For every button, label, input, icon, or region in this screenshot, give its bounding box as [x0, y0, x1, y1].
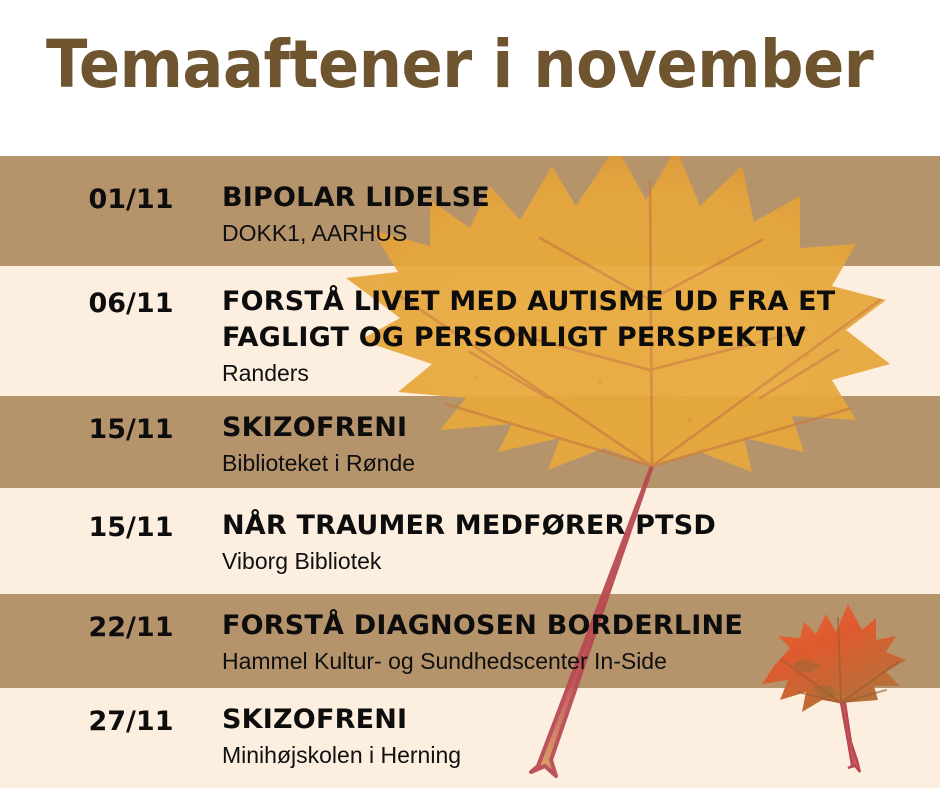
event-date: 27/11: [56, 706, 206, 737]
title-area: Temaaftener i november: [0, 0, 940, 156]
event-row: 01/11 BIPOLAR LIDELSE DOKK1, AARHUS: [0, 156, 940, 266]
event-date: 15/11: [56, 414, 206, 445]
event-title: FORSTÅ DIAGNOSEN BORDERLINE: [222, 608, 922, 644]
event-title: NÅR TRAUMER MEDFØRER PTSD: [222, 508, 922, 544]
event-venue: Randers: [222, 358, 922, 388]
event-venue: Biblioteket i Rønde: [222, 448, 922, 478]
event-title: BIPOLAR LIDELSE: [222, 180, 922, 216]
event-title: SKIZOFRENI: [222, 410, 922, 446]
event-venue: Viborg Bibliotek: [222, 546, 922, 576]
event-body: BIPOLAR LIDELSE DOKK1, AARHUS: [222, 180, 922, 248]
event-body: NÅR TRAUMER MEDFØRER PTSD Viborg Bibliot…: [222, 508, 922, 576]
poster-canvas: Temaaftener i november 01/11 BIPOLAR LID…: [0, 0, 940, 788]
event-date: 22/11: [56, 612, 206, 643]
event-title: SKIZOFRENI: [222, 702, 922, 738]
event-row: 15/11 SKIZOFRENI Biblioteket i Rønde: [0, 396, 940, 488]
event-body: FORSTÅ DIAGNOSEN BORDERLINE Hammel Kultu…: [222, 608, 922, 676]
event-row: 06/11 FORSTÅ LIVET MED AUTISME UD FRA ET…: [0, 266, 940, 396]
event-body: SKIZOFRENI Minihøjskolen i Herning: [222, 702, 922, 770]
event-row: 22/11 FORSTÅ DIAGNOSEN BORDERLINE Hammel…: [0, 594, 940, 688]
event-venue: DOKK1, AARHUS: [222, 218, 922, 248]
event-date: 15/11: [56, 512, 206, 543]
event-title: FORSTÅ LIVET MED AUTISME UD FRA ET FAGLI…: [222, 284, 922, 356]
event-body: SKIZOFRENI Biblioteket i Rønde: [222, 410, 922, 478]
event-date: 01/11: [56, 184, 206, 215]
event-body: FORSTÅ LIVET MED AUTISME UD FRA ET FAGLI…: [222, 284, 922, 388]
page-title: Temaaftener i november: [46, 26, 873, 103]
event-row: 15/11 NÅR TRAUMER MEDFØRER PTSD Viborg B…: [0, 488, 940, 594]
event-date: 06/11: [56, 288, 206, 319]
event-venue: Hammel Kultur- og Sundhedscenter In-Side: [222, 646, 922, 676]
event-row: 27/11 SKIZOFRENI Minihøjskolen i Herning: [0, 688, 940, 788]
event-venue: Minihøjskolen i Herning: [222, 740, 922, 770]
